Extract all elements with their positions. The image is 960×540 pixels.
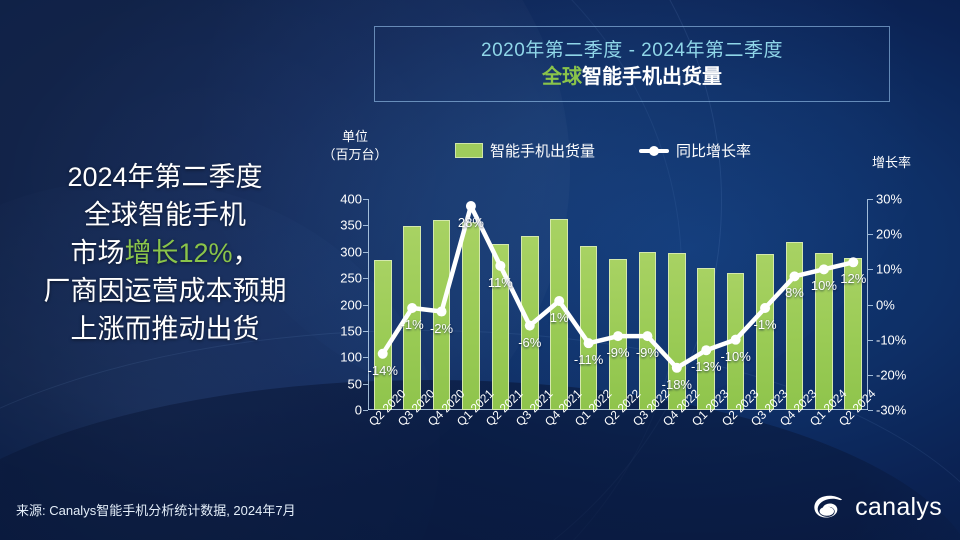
slide-canvas: 2020年第二季度 - 2024年第二季度 全球智能手机出货量 2024年第二季…: [0, 0, 960, 540]
y-tick-label-left: 100: [316, 350, 362, 365]
growth-label-q2-2022: -9%: [606, 345, 629, 360]
line-point-q3-2021: [525, 321, 535, 331]
canalys-logo: canalys: [811, 492, 942, 522]
y-tick-label-left: 350: [316, 218, 362, 233]
y-tick-right: [868, 340, 873, 341]
line-point-q1-2023: [701, 345, 711, 355]
legend-line-marker-icon: [639, 144, 669, 157]
canalys-logo-text: canalys: [855, 493, 942, 522]
y-tick-left: [363, 278, 368, 279]
y-tick-right: [868, 410, 873, 411]
y-tick-left: [363, 331, 368, 332]
headline-line-3: 市场增长12%，: [6, 234, 324, 272]
legend-item-shipments: 智能手机出货量: [455, 140, 595, 161]
y-tick-left: [363, 252, 368, 253]
chart-plot-area: 050100150200250300350400 -30%-20%-10%0%1…: [368, 199, 868, 410]
y-tick-label-right: 20%: [876, 227, 922, 242]
growth-label-q1-2023: -13%: [691, 359, 721, 374]
growth-label-q3-2023: -1%: [753, 317, 776, 332]
chart-title-box: 2020年第二季度 - 2024年第二季度 全球智能手机出货量: [374, 26, 890, 102]
headline-growth-highlight: 增长12%: [124, 238, 232, 268]
line-point-q4-2023: [789, 271, 799, 281]
growth-label-q1-2024: 10%: [811, 278, 837, 293]
canalys-swirl-icon: [811, 492, 847, 522]
y-tick-right: [868, 199, 873, 200]
headline-line-5: 上涨而推动出货: [6, 310, 324, 348]
y-tick-right: [868, 269, 873, 270]
y-tick-label-right: 10%: [876, 262, 922, 277]
line-point-q2-2021: [495, 261, 505, 271]
legend-label-growth: 同比增长率: [676, 140, 751, 161]
line-point-q4-2021: [554, 296, 564, 306]
headline: 2024年第二季度 全球智能手机 市场增长12%， 厂商因运营成本预期 上涨而推…: [6, 158, 324, 348]
headline-line-4: 厂商因运营成本预期: [6, 272, 324, 310]
source-note: 来源: Canalys智能手机分析统计数据, 2024年7月: [16, 500, 296, 519]
line-point-q4-2022: [672, 363, 682, 373]
headline-line-2: 全球智能手机: [6, 196, 324, 234]
growth-label-q1-2021: 28%: [458, 215, 484, 230]
line-point-q4-2020: [437, 307, 447, 317]
y-tick-label-left: 300: [316, 244, 362, 259]
line-point-q1-2022: [584, 338, 594, 348]
line-point-q3-2020: [407, 303, 417, 313]
line-point-q2-2024: [848, 257, 858, 267]
unit-label: 单位 （百万台）: [310, 128, 400, 164]
y-tick-label-left: 400: [316, 192, 362, 207]
y-tick-right: [868, 234, 873, 235]
growth-label-q4-2021: 1%: [550, 310, 569, 325]
line-point-q3-2022: [642, 331, 652, 341]
chart-title-period: 2020年第二季度 - 2024年第二季度: [375, 38, 889, 64]
growth-label-q4-2020: -2%: [430, 321, 453, 336]
y-tick-left: [363, 357, 368, 358]
growth-label-q2-2023: -10%: [720, 349, 750, 364]
growth-label-q4-2023: 8%: [785, 285, 804, 300]
unit-label-line-1: 单位: [310, 128, 400, 146]
line-point-q2-2020: [378, 349, 388, 359]
growth-label-q3-2021: -6%: [518, 335, 541, 350]
growth-label-q3-2022: -9%: [636, 345, 659, 360]
y-tick-label-right: -30%: [876, 403, 922, 418]
legend-item-growth: 同比增长率: [639, 140, 751, 161]
unit-label-line-2: （百万台）: [310, 146, 400, 164]
growth-label-q3-2020: -1%: [401, 317, 424, 332]
y-tick-left: [363, 384, 368, 385]
line-point-q2-2023: [731, 335, 741, 345]
y-tick-label-right: 30%: [876, 192, 922, 207]
chart-title-highlight: 全球: [542, 66, 582, 88]
y-tick-label-right: -10%: [876, 332, 922, 347]
y-tick-right: [868, 375, 873, 376]
y-tick-left: [363, 410, 368, 411]
headline-line-1: 2024年第二季度: [6, 158, 324, 196]
y-tick-label-left: 0: [316, 403, 362, 418]
growth-label-q2-2020: -14%: [368, 363, 398, 378]
chart-legend: 智能手机出货量 同比增长率: [455, 140, 751, 161]
y-tick-label-left: 200: [316, 297, 362, 312]
y-tick-left: [363, 199, 368, 200]
y-tick-left: [363, 305, 368, 306]
growth-label-q1-2022: -11%: [574, 352, 603, 367]
line-point-q3-2023: [760, 303, 770, 313]
chart-title-rest: 智能手机出货量: [582, 66, 722, 88]
growth-line-series: [368, 199, 868, 410]
y-tick-label-right: -20%: [876, 367, 922, 382]
line-point-q2-2022: [613, 331, 623, 341]
y-tick-label-right: 0%: [876, 297, 922, 312]
y-tick-label-left: 150: [316, 323, 362, 338]
growth-label-q2-2021: 11%: [488, 275, 513, 290]
growth-label-q2-2024: 12%: [840, 271, 866, 286]
legend-label-shipments: 智能手机出货量: [490, 140, 595, 161]
headline-line-3-pre: 市场: [70, 238, 124, 268]
y-tick-label-left: 250: [316, 271, 362, 286]
y-tick-right: [868, 305, 873, 306]
line-point-q1-2021: [466, 201, 476, 211]
legend-bar-swatch-icon: [455, 143, 483, 158]
secondary-axis-title: 增长率: [872, 152, 911, 171]
y-tick-label-left: 50: [316, 376, 362, 391]
headline-line-3-post: ，: [233, 238, 260, 268]
chart-title-main: 全球智能手机出货量: [375, 64, 889, 90]
y-tick-left: [363, 225, 368, 226]
line-point-q1-2024: [819, 264, 829, 274]
